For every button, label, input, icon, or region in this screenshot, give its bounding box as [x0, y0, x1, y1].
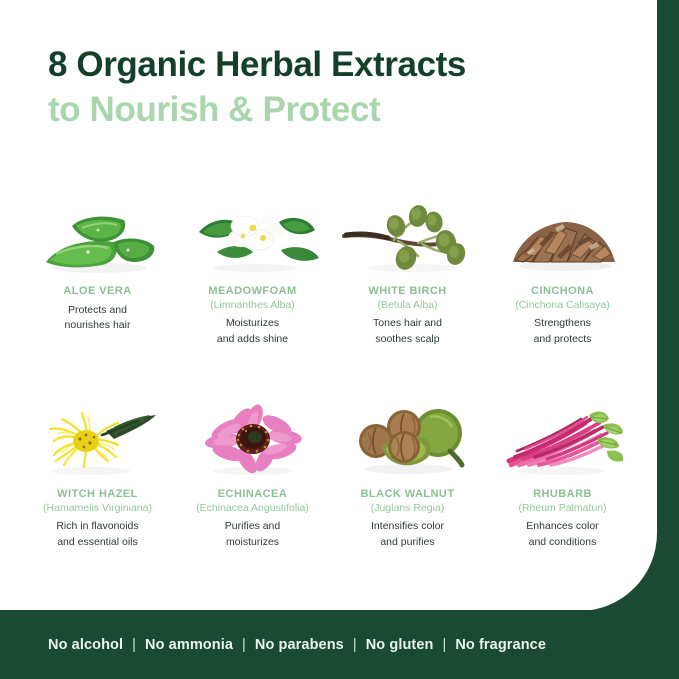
herb-card-black-walnut: BLACK WALNUT (Juglans Regia) Intensifies… [330, 395, 485, 598]
herb-name: WITCH HAZEL [57, 487, 138, 502]
echinacea-icon [183, 395, 323, 479]
claim-separator: | [242, 637, 246, 653]
herb-name: ECHINACEA [218, 487, 287, 502]
herb-card-cinchona: CINCHONA (Cinchona Calisaya) Strengthens… [485, 192, 640, 395]
herb-name: WHITE BIRCH [368, 284, 446, 299]
meadowfoam-icon [183, 192, 323, 276]
herb-name: BLACK WALNUT [361, 487, 455, 502]
claim-separator: | [132, 637, 136, 653]
herb-name: CINCHONA [531, 284, 594, 299]
claim-separator: | [442, 637, 446, 653]
herb-name: ALOE VERA [63, 284, 131, 299]
herb-latin-name: (Betula Alba) [377, 299, 437, 313]
claim-no-parabens: No parabens [255, 637, 344, 653]
black-walnut-icon [338, 395, 478, 479]
herb-description: Strengthens and protects [534, 316, 592, 346]
claim-no-ammonia: No ammonia [145, 637, 233, 653]
herb-latin-name: (Hamamelis Virginiana) [43, 502, 152, 516]
herb-name: MEADOWFOAM [208, 284, 296, 299]
content-card: 8 Organic Herbal Extracts to Nourish & P… [0, 0, 657, 611]
herb-card-meadowfoam: MEADOWFOAM (Limnanthes Alba) Moisturizes… [175, 192, 330, 395]
infographic-page: 8 Organic Herbal Extracts to Nourish & P… [0, 0, 679, 679]
herb-description: Enhances color and conditions [526, 519, 598, 549]
claim-separator: | [353, 637, 357, 653]
claims-banner: No alcohol | No ammonia | No parabens | … [0, 610, 679, 679]
claim-no-alcohol: No alcohol [48, 637, 123, 653]
herb-latin-name: (Limnanthes Alba) [210, 299, 295, 313]
header: 8 Organic Herbal Extracts to Nourish & P… [48, 44, 628, 131]
claims-list: No alcohol | No ammonia | No parabens | … [48, 637, 546, 653]
white-birch-icon [338, 192, 478, 276]
herb-name: RHUBARB [533, 487, 592, 502]
herb-latin-name: (Rheum Palmatun) [518, 502, 606, 516]
claim-no-fragrance: No fragrance [455, 637, 546, 653]
herb-card-aloe-vera: ALOE VERA Protects and nourishes hair [20, 192, 175, 395]
aloe-vera-icon [28, 192, 168, 276]
witch-hazel-icon [28, 395, 168, 479]
page-title-secondary: to Nourish & Protect [48, 89, 628, 130]
herb-description: Rich in flavonoids and essential oils [56, 519, 138, 549]
herb-card-echinacea: ECHINACEA (Echinacea Angustifolia) Purif… [175, 395, 330, 598]
herb-description: Moisturizes and adds shine [217, 316, 288, 346]
rhubarb-icon [493, 395, 633, 479]
herb-latin-name: (Echinacea Angustifolia) [196, 502, 309, 516]
herb-latin-name: (Juglans Regia) [371, 502, 445, 516]
herb-card-witch-hazel: WITCH HAZEL (Hamamelis Virginiana) Rich … [20, 395, 175, 598]
herb-card-white-birch: WHITE BIRCH (Betula Alba) Tones hair and… [330, 192, 485, 395]
claim-no-gluten: No gluten [366, 637, 434, 653]
cinchona-icon [493, 192, 633, 276]
herb-description: Tones hair and soothes scalp [373, 316, 442, 346]
herb-latin-name: (Cinchona Calisaya) [515, 299, 610, 313]
herb-description: Protects and nourishes hair [65, 303, 131, 333]
herb-description: Intensifies color and purifies [371, 519, 444, 549]
page-title-primary: 8 Organic Herbal Extracts [48, 44, 628, 85]
herb-grid: ALOE VERA Protects and nourishes hair [20, 192, 640, 598]
herb-card-rhubarb: RHUBARB (Rheum Palmatun) Enhances color … [485, 395, 640, 598]
herb-description: Purifies and moisturizes [225, 519, 280, 549]
